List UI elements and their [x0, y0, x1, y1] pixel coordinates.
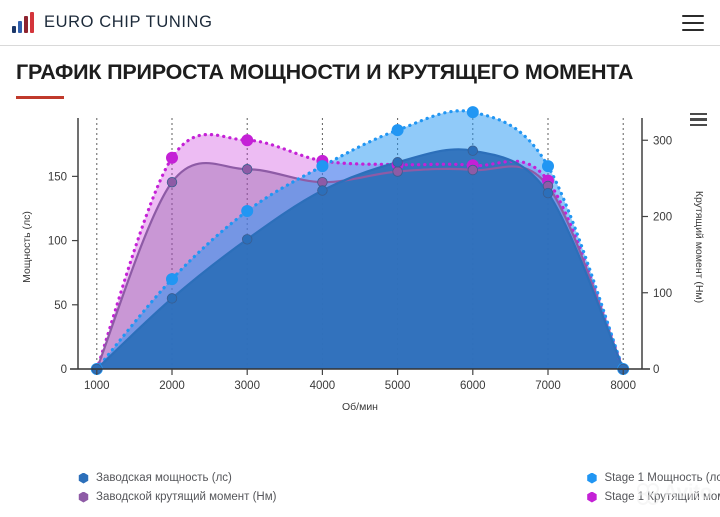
legend-label: Stage 1 Крутящий момент (Нм): [604, 491, 720, 503]
legend-marker-icon: [78, 473, 89, 484]
title-block: ГРАФИК ПРИРОСТА МОЩНОСТИ И КРУТЯЩЕГО МОМ…: [0, 46, 720, 99]
svg-text:2000: 2000: [159, 380, 185, 392]
svg-text:100: 100: [653, 288, 672, 300]
legend-item-stock-power[interactable]: Заводская мощность (лс): [78, 472, 276, 484]
svg-text:300: 300: [653, 135, 672, 147]
legend-label: Заводская мощность (лс): [96, 472, 232, 484]
chart-hamburger-icon[interactable]: [690, 113, 707, 126]
svg-text:Об/мин: Об/мин: [342, 401, 378, 413]
svg-text:150: 150: [48, 171, 67, 183]
chart-canvas: 0501001500100200300100020003000400050006…: [0, 105, 720, 455]
power-torque-chart: 0501001500100200300100020003000400050006…: [0, 105, 720, 455]
chart-legend: Заводская мощность (лс) Заводской крутящ…: [0, 472, 720, 503]
site-header: EURO CHIP TUNING: [0, 0, 720, 46]
svg-text:5000: 5000: [385, 380, 411, 392]
brand-logo[interactable]: EURO CHIP TUNING: [12, 13, 213, 33]
svg-text:3000: 3000: [234, 380, 260, 392]
svg-text:8000: 8000: [610, 380, 636, 392]
svg-text:1000: 1000: [84, 380, 110, 392]
svg-text:6000: 6000: [460, 380, 486, 392]
brand-name: EURO CHIP TUNING: [44, 13, 213, 32]
legend-item-stock-torque[interactable]: Заводской крутящий момент (Нм): [78, 491, 276, 503]
svg-text:0: 0: [61, 364, 67, 376]
legend-marker-icon: [586, 492, 597, 503]
bar-logo-icon: [12, 13, 34, 33]
page-root: EURO CHIP TUNING ГРАФИК ПРИРОСТА МОЩНОСТ…: [0, 0, 720, 517]
svg-text:7000: 7000: [535, 380, 561, 392]
svg-text:50: 50: [54, 300, 67, 312]
legend-item-stage1-power[interactable]: Stage 1 Мощность (лс): [586, 472, 720, 484]
svg-text:4000: 4000: [310, 380, 336, 392]
svg-text:0: 0: [653, 364, 659, 376]
legend-label: Заводской крутящий момент (Нм): [96, 491, 276, 503]
page-title: ГРАФИК ПРИРОСТА МОЩНОСТИ И КРУТЯЩЕГО МОМ…: [16, 60, 704, 85]
legend-marker-icon: [586, 473, 597, 484]
legend-column-right: Stage 1 Мощность (лс) Stage 1 Крутящий м…: [586, 472, 720, 503]
legend-marker-icon: [78, 492, 89, 503]
svg-text:Мощность (лс): Мощность (лс): [21, 211, 33, 283]
legend-column-left: Заводская мощность (лс) Заводской крутящ…: [78, 472, 276, 503]
svg-text:100: 100: [48, 236, 67, 248]
legend-label: Stage 1 Мощность (лс): [604, 472, 720, 484]
title-underline: [16, 96, 64, 99]
legend-item-stage1-torque[interactable]: Stage 1 Крутящий момент (Нм): [586, 491, 720, 503]
svg-text:200: 200: [653, 212, 672, 224]
hamburger-menu-icon[interactable]: [682, 15, 704, 31]
svg-text:Крутящий момент (Нм): Крутящий момент (Нм): [693, 191, 705, 303]
